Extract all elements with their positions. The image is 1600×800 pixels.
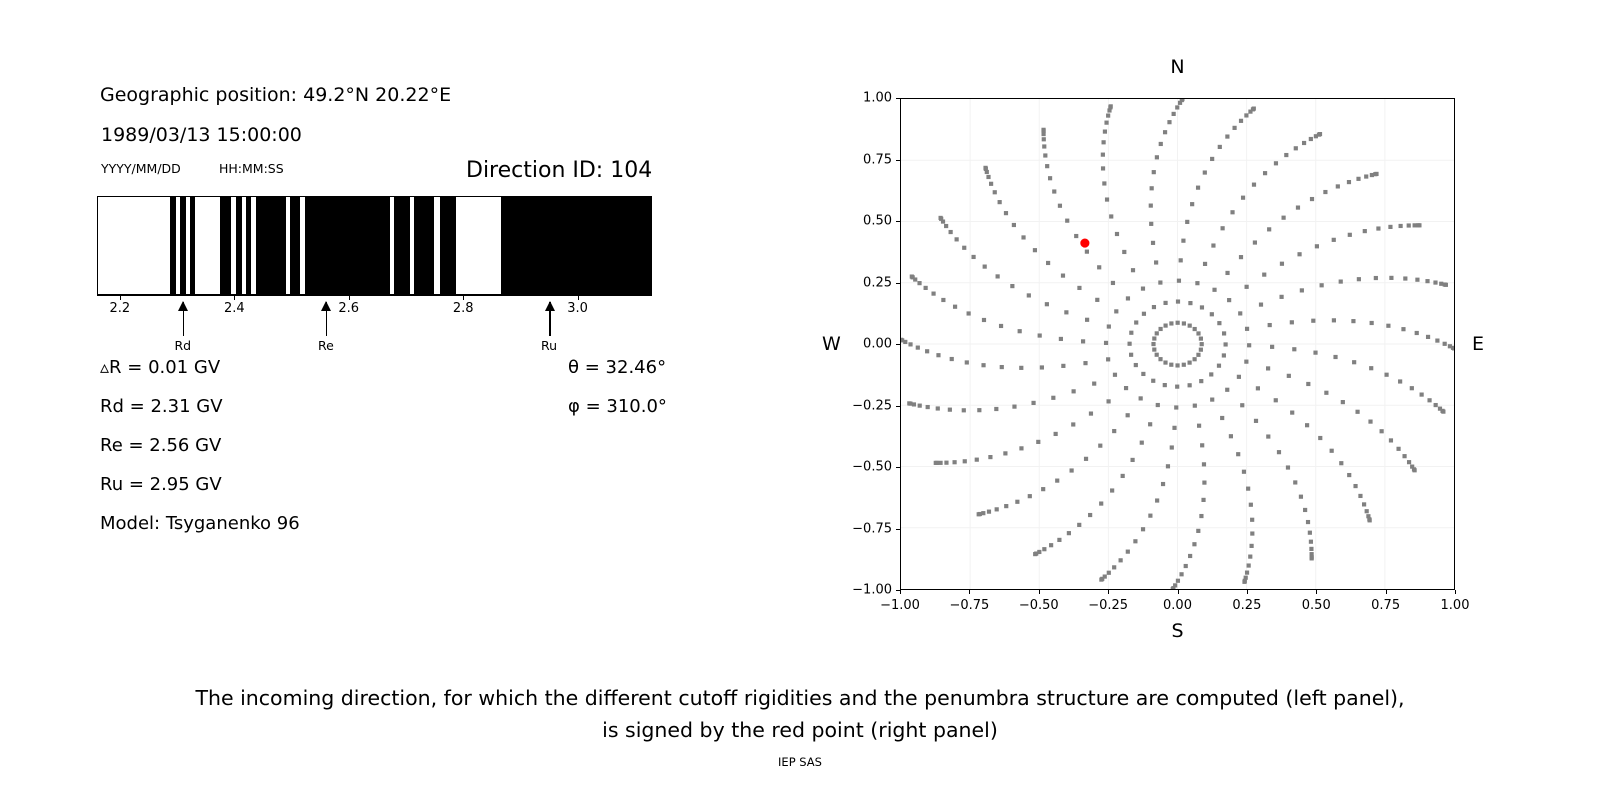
rigidity-tick-label: 2.6 xyxy=(338,301,359,316)
direction-point xyxy=(938,461,942,465)
direction-point xyxy=(1434,403,1438,407)
direction-point xyxy=(1084,457,1088,461)
direction-point xyxy=(1111,281,1115,285)
direction-point xyxy=(967,311,971,315)
y-tick-mark xyxy=(896,98,900,99)
direction-point xyxy=(1043,153,1047,157)
direction-point xyxy=(1107,571,1111,575)
direction-point xyxy=(917,281,921,285)
direction-point xyxy=(1033,552,1037,556)
direction-point xyxy=(1155,353,1159,357)
direction-point xyxy=(1267,227,1271,231)
direction-point xyxy=(1176,299,1180,303)
penumbra-forbidden-band xyxy=(256,197,286,294)
direction-point xyxy=(1102,181,1106,185)
direction-point xyxy=(1175,105,1179,109)
direction-point xyxy=(1277,450,1281,454)
direction-point xyxy=(1386,324,1390,328)
direction-point xyxy=(1407,460,1411,464)
direction-point xyxy=(1368,420,1372,424)
direction-point xyxy=(1106,399,1110,403)
direction-point xyxy=(1305,423,1309,427)
direction-point xyxy=(1140,441,1144,445)
penumbra-spectrum-bar xyxy=(97,196,652,295)
direction-point xyxy=(908,342,912,346)
direction-point xyxy=(1046,261,1050,265)
direction-point xyxy=(1374,276,1378,280)
direction-point xyxy=(1347,180,1351,184)
direction-point xyxy=(1294,146,1298,150)
direction-point xyxy=(1229,434,1233,438)
param-rd: Rd = 2.31 GV xyxy=(100,396,223,417)
direction-point xyxy=(1221,226,1225,230)
rigidity-tick xyxy=(349,295,350,300)
direction-point xyxy=(965,360,969,364)
direction-point xyxy=(1323,190,1327,194)
direction-point xyxy=(1247,563,1251,567)
direction-point xyxy=(1112,565,1116,569)
direction-point xyxy=(949,230,953,234)
y-tick-mark xyxy=(896,160,900,161)
geographic-position-label: Geographic position: 49.2°N 20.22°E xyxy=(100,84,451,106)
direction-point xyxy=(1196,353,1200,357)
direction-point xyxy=(1222,353,1226,357)
direction-point xyxy=(1188,324,1192,328)
direction-point xyxy=(1121,474,1125,478)
x-tick-mark xyxy=(1455,590,1456,594)
direction-point xyxy=(1210,157,1214,161)
direction-point xyxy=(955,237,959,241)
direction-point xyxy=(1199,379,1203,383)
direction-point xyxy=(1042,144,1046,148)
direction-point xyxy=(1163,383,1167,387)
direction-point xyxy=(1318,132,1322,136)
direction-point xyxy=(1102,140,1106,144)
direction-point xyxy=(1181,239,1185,243)
direction-point xyxy=(1396,447,1400,451)
direction-point xyxy=(1150,186,1154,190)
direction-point xyxy=(962,408,966,412)
direction-point xyxy=(1237,375,1241,379)
direction-point xyxy=(1176,321,1180,325)
y-tick-mark xyxy=(896,344,900,345)
direction-point xyxy=(952,460,956,464)
direction-point xyxy=(1152,336,1156,340)
direction-point xyxy=(1141,527,1145,531)
direction-point xyxy=(1403,276,1407,280)
x-tick-mark xyxy=(1178,590,1179,594)
direction-point xyxy=(1297,252,1301,256)
cutoff-marker-label: Ru xyxy=(541,338,557,353)
direction-point xyxy=(1284,153,1288,157)
direction-point xyxy=(1064,310,1068,314)
direction-point xyxy=(1148,422,1152,426)
direction-point xyxy=(1420,392,1424,396)
direction-point xyxy=(1049,543,1053,547)
direction-point xyxy=(1444,283,1448,287)
rigidity-axis xyxy=(97,295,652,296)
direction-point xyxy=(1161,482,1165,486)
direction-point xyxy=(1200,305,1204,309)
direction-point xyxy=(1041,128,1045,132)
direction-point xyxy=(1280,262,1284,266)
direction-point xyxy=(1179,258,1183,262)
penumbra-forbidden-band xyxy=(414,197,434,294)
penumbra-forbidden-band xyxy=(501,197,652,294)
direction-point xyxy=(1222,331,1226,335)
penumbra-panel: Geographic position: 49.2°N 20.22°E 1989… xyxy=(0,0,760,620)
direction-point xyxy=(1027,293,1031,297)
direction-point xyxy=(1333,355,1337,359)
direction-point xyxy=(1240,403,1244,407)
direction-point xyxy=(1164,323,1168,327)
direction-point xyxy=(1083,361,1087,365)
direction-point xyxy=(1318,436,1322,440)
direction-point xyxy=(1282,216,1286,220)
direction-point xyxy=(1274,398,1278,402)
x-tick-mark xyxy=(900,590,901,594)
y-tick-label: 0.50 xyxy=(830,214,892,229)
x-tick-label: 0.00 xyxy=(1163,598,1192,613)
direction-point xyxy=(1332,318,1336,322)
direction-point xyxy=(1151,379,1155,383)
direction-point xyxy=(1227,298,1231,302)
direction-point xyxy=(1104,121,1108,125)
direction-point xyxy=(1152,305,1156,309)
direction-point xyxy=(1179,572,1183,576)
direction-point xyxy=(1308,531,1312,535)
x-tick-mark xyxy=(969,590,970,594)
direction-point xyxy=(1268,323,1272,327)
direction-point xyxy=(1018,329,1022,333)
direction-point xyxy=(1126,413,1130,417)
direction-point xyxy=(1225,388,1229,392)
direction-point xyxy=(1259,303,1263,307)
direction-point xyxy=(1089,411,1093,415)
direction-point xyxy=(1433,280,1437,284)
direction-point xyxy=(1152,347,1156,351)
x-tick-label: 0.50 xyxy=(1302,598,1331,613)
direction-point xyxy=(1369,366,1373,370)
direction-point xyxy=(981,363,985,367)
caption-line-2: is signed by the red point (right panel) xyxy=(0,714,1600,746)
direction-point xyxy=(1266,434,1270,438)
direction-point xyxy=(1155,498,1159,502)
direction-point xyxy=(1225,134,1229,138)
direction-point xyxy=(910,274,914,278)
rigidity-tick xyxy=(578,295,579,300)
direction-point xyxy=(1365,509,1369,513)
direction-point xyxy=(1110,488,1114,492)
direction-point xyxy=(1061,364,1065,368)
direction-point xyxy=(1170,445,1174,449)
direction-point xyxy=(983,166,987,170)
direction-point xyxy=(982,318,986,322)
direction-point xyxy=(1021,235,1025,239)
direction-point xyxy=(1202,462,1206,466)
direction-point xyxy=(996,274,1000,278)
direction-point xyxy=(1142,312,1146,316)
direction-point xyxy=(1092,382,1096,386)
direction-point xyxy=(1010,284,1014,288)
direction-point xyxy=(1167,120,1171,124)
rigidity-tick xyxy=(120,295,121,300)
direction-point xyxy=(1355,410,1359,414)
direction-point xyxy=(1244,113,1248,117)
direction-point xyxy=(1172,426,1176,430)
direction-point xyxy=(1310,197,1314,201)
x-tick-label: 1.00 xyxy=(1441,598,1470,613)
direction-point xyxy=(1384,373,1388,377)
direction-point xyxy=(1195,281,1199,285)
penumbra-forbidden-band xyxy=(180,197,185,294)
direction-point xyxy=(1119,558,1123,562)
direction-point xyxy=(901,338,903,342)
direction-point xyxy=(939,216,943,220)
direction-point xyxy=(1028,494,1032,498)
direction-point xyxy=(931,292,935,296)
figure-canvas: Geographic position: 49.2°N 20.22°E 1989… xyxy=(0,0,1600,800)
figure-caption: The incoming direction, for which the di… xyxy=(0,682,1600,746)
direction-point xyxy=(1254,419,1258,423)
param-phi: φ = 310.0° xyxy=(568,396,667,417)
direction-point xyxy=(1065,219,1069,223)
direction-point xyxy=(1151,241,1155,245)
direction-point xyxy=(1341,400,1345,404)
direction-point xyxy=(1067,531,1071,535)
param-model: Model: Tsyganenko 96 xyxy=(100,513,300,534)
sky-map-plot-area xyxy=(900,98,1455,590)
direction-point xyxy=(1274,161,1278,165)
datetime-label: 1989/03/13 15:00:00 xyxy=(101,124,302,146)
x-tick-label: 0.25 xyxy=(1232,598,1261,613)
direction-point xyxy=(1199,337,1203,341)
rigidity-tick xyxy=(463,295,464,300)
direction-point xyxy=(1057,538,1061,542)
y-tick-label: 1.00 xyxy=(830,91,892,106)
direction-point xyxy=(1209,372,1213,376)
direction-point xyxy=(1088,513,1092,517)
direction-point xyxy=(1310,556,1314,560)
direction-point xyxy=(1113,373,1117,377)
sky-map-panel: N S W E −1.00−0.75−0.50−0.250.000.250.50… xyxy=(760,0,1600,660)
direction-point xyxy=(1348,233,1352,237)
direction-point xyxy=(1015,500,1019,504)
direction-point xyxy=(1141,287,1145,291)
direction-point xyxy=(1012,223,1016,227)
direction-point xyxy=(916,346,920,350)
direction-point xyxy=(1004,211,1008,215)
direction-point xyxy=(1171,587,1175,589)
arrow-up-icon xyxy=(178,301,188,311)
direction-point xyxy=(1311,319,1315,323)
direction-point xyxy=(1051,396,1055,400)
x-tick-mark xyxy=(1316,590,1317,594)
direction-point xyxy=(1197,424,1201,428)
direction-point xyxy=(1374,172,1378,176)
direction-point xyxy=(1048,176,1052,180)
arrow-up-icon xyxy=(545,301,555,311)
rigidity-tick-label: 2.4 xyxy=(224,301,245,316)
direction-point xyxy=(1200,342,1204,346)
direction-point xyxy=(950,357,954,361)
direction-point xyxy=(1190,202,1194,206)
rigidity-tick-label: 2.8 xyxy=(453,301,474,316)
direction-point xyxy=(1129,331,1133,335)
direction-point xyxy=(1054,432,1058,436)
direction-point xyxy=(1072,389,1076,393)
direction-point xyxy=(1351,319,1355,323)
penumbra-forbidden-band xyxy=(394,197,409,294)
direction-point xyxy=(1332,238,1336,242)
direction-point xyxy=(1417,223,1421,227)
x-tick-mark xyxy=(1108,590,1109,594)
direction-point xyxy=(1199,514,1203,518)
direction-point xyxy=(1040,365,1044,369)
x-tick-mark xyxy=(1247,590,1248,594)
direction-point xyxy=(1012,405,1016,409)
direction-point xyxy=(1185,220,1189,224)
direction-point xyxy=(1182,321,1186,325)
y-tick-mark xyxy=(896,406,900,407)
direction-point xyxy=(1109,104,1113,108)
direction-point xyxy=(1109,214,1113,218)
direction-point xyxy=(1101,166,1105,170)
direction-point xyxy=(1245,285,1249,289)
y-tick-label: 0.75 xyxy=(830,152,892,167)
direction-point xyxy=(1180,99,1184,101)
compass-south-label: S xyxy=(900,620,1455,642)
direction-point xyxy=(1415,331,1419,335)
direction-point xyxy=(1099,578,1103,582)
direction-point xyxy=(1212,288,1216,292)
direction-point xyxy=(988,455,992,459)
direction-point xyxy=(1303,508,1307,512)
direction-point xyxy=(1292,347,1296,351)
direction-point xyxy=(924,286,928,290)
direction-point xyxy=(944,224,948,228)
direction-point xyxy=(1077,286,1081,290)
direction-point xyxy=(953,305,957,309)
direction-point xyxy=(1152,170,1156,174)
param-ru: Ru = 2.95 GV xyxy=(100,474,222,495)
direction-point xyxy=(1159,327,1163,331)
direction-point xyxy=(1201,498,1205,502)
direction-point xyxy=(1196,186,1200,190)
direction-point xyxy=(1081,339,1085,343)
direction-point xyxy=(1196,331,1200,335)
direction-point xyxy=(1163,301,1167,305)
direction-point xyxy=(1133,539,1137,543)
direction-point xyxy=(1126,550,1130,554)
param-delta-r: ▵R = 0.01 GV xyxy=(100,357,220,378)
direction-point xyxy=(1279,295,1283,299)
direction-point xyxy=(1042,137,1046,141)
direction-point xyxy=(989,182,993,186)
selected-direction-point[interactable] xyxy=(1080,238,1089,247)
sky-map-svg xyxy=(901,99,1454,589)
direction-point xyxy=(1070,468,1074,472)
footer-credit: IEP SAS xyxy=(0,755,1600,769)
direction-point xyxy=(1188,383,1192,387)
direction-point xyxy=(1052,189,1056,193)
direction-point xyxy=(1427,398,1431,402)
direction-point xyxy=(1141,372,1145,376)
direction-point xyxy=(1154,260,1158,264)
direction-point xyxy=(995,507,999,511)
direction-point xyxy=(1058,204,1062,208)
direction-point xyxy=(1112,429,1116,433)
direction-point xyxy=(1122,250,1126,254)
direction-point xyxy=(1407,223,1411,227)
direction-point xyxy=(1286,465,1290,469)
direction-point xyxy=(1250,544,1254,548)
direction-point xyxy=(1134,363,1138,367)
direction-point xyxy=(1175,363,1179,367)
caption-line-1: The incoming direction, for which the di… xyxy=(0,682,1600,714)
x-tick-label: −0.25 xyxy=(1088,598,1128,613)
direction-point xyxy=(1368,518,1372,522)
direction-point xyxy=(999,324,1003,328)
x-tick-label: −1.00 xyxy=(880,598,920,613)
direction-point xyxy=(1220,416,1224,420)
direction-point xyxy=(971,255,975,259)
direction-point xyxy=(1380,429,1384,433)
direction-point xyxy=(1019,366,1023,370)
direction-point xyxy=(1184,564,1188,568)
direction-point xyxy=(1266,366,1270,370)
direction-point xyxy=(1104,341,1108,345)
direction-point xyxy=(934,461,938,465)
direction-point xyxy=(986,175,990,179)
direction-point xyxy=(998,200,1002,204)
direction-point xyxy=(1203,170,1207,174)
direction-point xyxy=(1085,318,1089,322)
direction-point xyxy=(1441,410,1445,414)
direction-point xyxy=(1252,106,1256,110)
direction-point xyxy=(1363,229,1367,233)
x-tick-mark xyxy=(1386,590,1387,594)
direction-point xyxy=(907,401,911,405)
direction-point xyxy=(1000,365,1004,369)
direction-point xyxy=(1309,137,1313,141)
direction-point xyxy=(1302,141,1306,145)
penumbra-forbidden-band xyxy=(236,197,241,294)
direction-point xyxy=(1149,204,1153,208)
direction-point xyxy=(1309,540,1313,544)
direction-point xyxy=(962,246,966,250)
y-tick-label: 0.25 xyxy=(830,275,892,290)
direction-point xyxy=(944,461,948,465)
direction-point xyxy=(1347,473,1351,477)
cutoff-marker-label: Re xyxy=(318,338,334,353)
direction-point xyxy=(1330,449,1334,453)
direction-point xyxy=(1336,184,1340,188)
direction-point xyxy=(1045,164,1049,168)
penumbra-forbidden-band xyxy=(290,197,300,294)
direction-point xyxy=(1097,265,1101,269)
direction-point xyxy=(948,408,952,412)
direction-point xyxy=(1095,298,1099,302)
direction-point xyxy=(987,510,991,514)
direction-point xyxy=(1105,197,1109,201)
direction-point xyxy=(1077,523,1081,527)
direction-point xyxy=(1103,130,1107,134)
direction-point xyxy=(1107,324,1111,328)
direction-point xyxy=(1196,529,1200,533)
direction-point xyxy=(1415,278,1419,282)
direction-id-label: Direction ID: 104 xyxy=(466,158,652,183)
